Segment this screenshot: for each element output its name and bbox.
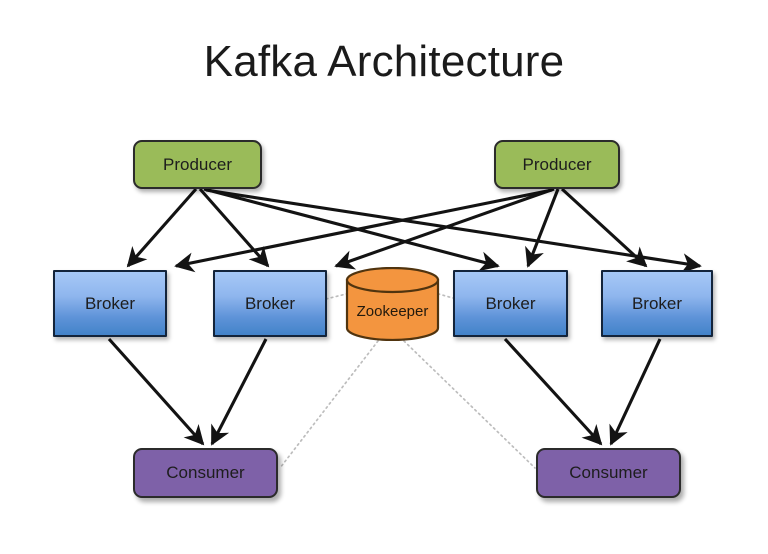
edge-broker4-consumer2	[611, 339, 660, 444]
node-broker-4[interactable]: Broker	[601, 270, 713, 337]
consumer-1-label: Consumer	[166, 463, 244, 483]
node-producer-2[interactable]: Producer	[494, 140, 620, 189]
node-zookeeper[interactable]: Zookeeper	[345, 267, 440, 341]
producer-2-label: Producer	[523, 155, 592, 175]
node-producer-1[interactable]: Producer	[133, 140, 262, 189]
diagram-canvas: Kafka Architecture	[0, 0, 768, 554]
edge-producer1-broker1	[128, 189, 196, 266]
broker-1-label: Broker	[85, 294, 135, 314]
node-broker-3[interactable]: Broker	[453, 270, 568, 337]
edge-producer2-broker3	[528, 189, 558, 266]
node-consumer-1[interactable]: Consumer	[133, 448, 278, 498]
consumer-2-label: Consumer	[569, 463, 647, 483]
node-broker-1[interactable]: Broker	[53, 270, 167, 337]
node-broker-2[interactable]: Broker	[213, 270, 327, 337]
broker-2-label: Broker	[245, 294, 295, 314]
cylinder-icon	[345, 267, 440, 341]
edge-broker1-consumer1	[109, 339, 203, 444]
broker-3-label: Broker	[485, 294, 535, 314]
producer-1-label: Producer	[163, 155, 232, 175]
edge-producer2-broker4	[562, 189, 646, 266]
node-consumer-2[interactable]: Consumer	[536, 448, 681, 498]
broker-4-label: Broker	[632, 294, 682, 314]
edge-broker2-consumer1	[212, 339, 266, 444]
edge-group-producer-1	[128, 189, 700, 266]
edge-broker3-consumer2	[505, 339, 601, 444]
edge-zookeeper-consumer1	[280, 341, 378, 468]
edge-zookeeper-consumer2	[404, 341, 535, 468]
edge-group-brokers-consumers	[109, 339, 660, 444]
